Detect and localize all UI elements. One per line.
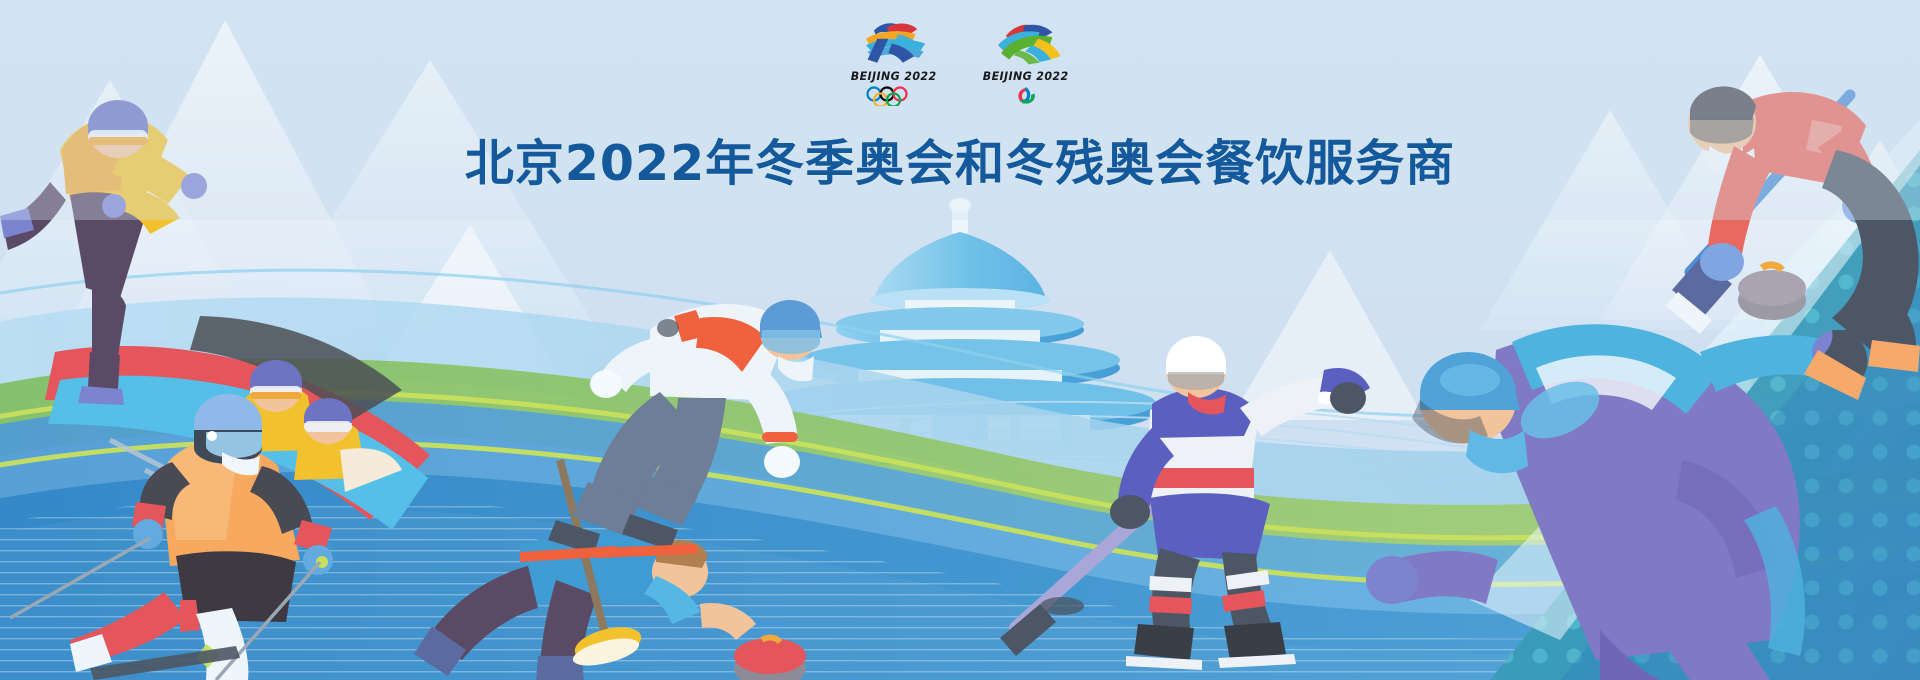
olympic-rings-icon [864, 86, 924, 106]
olympic-dong-ribbon-icon [850, 18, 938, 66]
beijing-2022-paralympic-emblem[interactable]: BEIJING 2022 [980, 18, 1072, 106]
curling-stone-left [734, 637, 806, 680]
paralympic-fei-ribbon-icon [982, 18, 1070, 66]
paralympic-wordmark: BEIJING 2022 [983, 69, 1069, 83]
olympic-wordmark: BEIJING 2022 [851, 69, 937, 83]
page-title: 北京2022年冬季奥会和冬残奥会餐饮服务商 [465, 124, 1455, 195]
olympic-banner: BEIJING 2022 [0, 0, 1920, 680]
emblem-group: BEIJING 2022 [848, 18, 1072, 106]
beijing-2022-olympic-emblem[interactable]: BEIJING 2022 [848, 18, 940, 106]
agitos-icon [996, 86, 1056, 106]
